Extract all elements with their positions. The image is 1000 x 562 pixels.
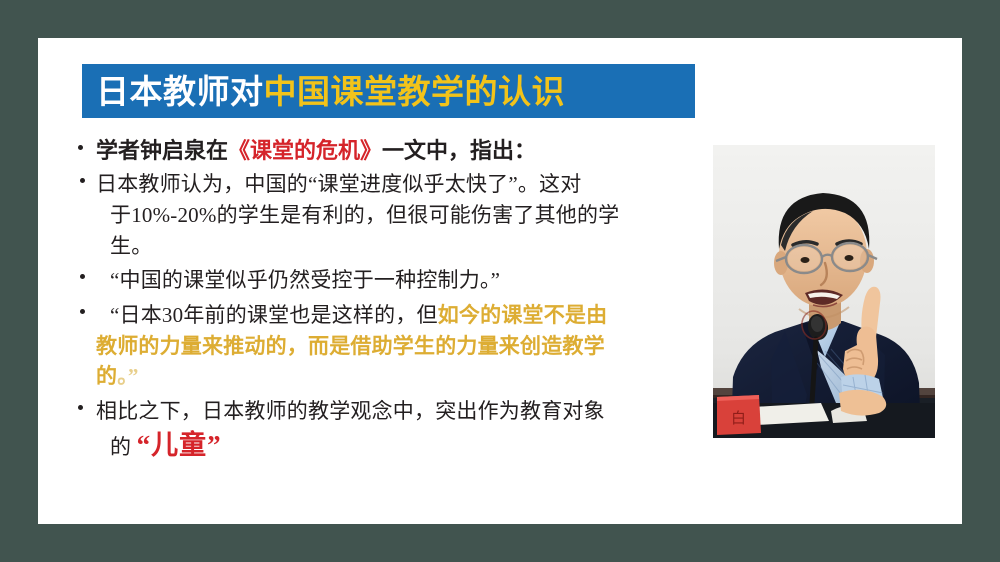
bullet-5-line-2: 的 “儿童” — [96, 426, 699, 465]
bullet-marker-icon — [80, 309, 85, 314]
bullet-item-5: 相比之下，日本教师的教学观念中，突出作为教育对象 的 “儿童” — [74, 396, 699, 466]
bullet-item-1: 学者钟启泉在《课堂的危机》一文中，指出： — [74, 136, 699, 167]
bullet-4-line-1: “日本30年前的课堂也是这样的，但如今的课堂不是由 — [96, 300, 699, 331]
bullet-4-line-2: 教师的力量来推动的，而是借助学生的力量来创造教学 — [96, 331, 699, 362]
speaker-photo: 白 — [713, 145, 935, 438]
speaker-photo-image: 白 — [713, 145, 935, 438]
bullet-2-line-2: 于10%-20%的学生是有利的，但很可能伤害了其他的学 — [96, 200, 699, 231]
bullet-item-2: 日本教师认为，中国的“课堂进度似乎太快了”。这对 于10%-20%的学生是有利的… — [74, 169, 699, 261]
name-placard: 白 — [717, 395, 761, 435]
bullet-marker-icon — [80, 178, 85, 183]
bullet-4-line-3-text: 的 — [96, 364, 117, 388]
bullet-1-line: 学者钟启泉在《课堂的危机》一文中，指出： — [96, 136, 699, 167]
bullet-4-seg-black: “日本30年前的课堂也是这样的，但 — [110, 303, 438, 327]
bullet-2-line-1: 日本教师认为，中国的“课堂进度似乎太快了”。这对 — [96, 169, 699, 200]
presentation-slide: 日本教师对中国课堂教学的认识 学者钟启泉在《课堂的危机》一文中，指出： 日本教师… — [38, 38, 962, 524]
slide-title-band: 日本教师对中国课堂教学的认识 — [82, 64, 695, 118]
page-title-highlight: 中国课堂教学的认识 — [264, 72, 566, 111]
bullet-1-seg-a: 学者钟启泉在 — [96, 139, 228, 164]
bullet-1-seg-c: 一文中，指出： — [382, 139, 536, 164]
bullet-marker-icon — [80, 274, 85, 279]
bullet-3-line-1: “中国的课堂似乎仍然受控于一种控制力。” — [96, 265, 699, 296]
bullet-4-line-2-text: 教师的力量来推动的，而是借助学生的力量来创造教学 — [96, 334, 605, 358]
page-title-prefix: 日本教师对 — [96, 72, 264, 111]
bullet-2-line-3: 生。 — [96, 231, 699, 262]
bullet-marker-icon — [78, 405, 83, 410]
bullet-4-seg-gold: 如今的课堂不是由 — [438, 303, 608, 327]
bullet-1-seg-title: 《课堂的危机》 — [228, 139, 382, 164]
bullet-4-line-3-close: 。” — [117, 364, 138, 388]
placard-text: 白 — [731, 409, 746, 427]
bullet-item-3: “中国的课堂似乎仍然受控于一种控制力。” — [74, 265, 699, 296]
bullet-marker-icon — [78, 145, 83, 150]
bullet-5-seg-prefix: 的 — [110, 435, 137, 459]
bullet-5-line-1: 相比之下，日本教师的教学观念中，突出作为教育对象 — [96, 396, 699, 427]
slide-body: 学者钟启泉在《课堂的危机》一文中，指出： 日本教师认为，中国的“课堂进度似乎太快… — [74, 136, 699, 470]
slide-frame: 日本教师对中国课堂教学的认识 学者钟启泉在《课堂的危机》一文中，指出： 日本教师… — [0, 0, 1000, 562]
bullet-4-line-3: 的。” — [96, 361, 699, 392]
bullet-item-4: “日本30年前的课堂也是这样的，但如今的课堂不是由 教师的力量来推动的，而是借助… — [74, 300, 699, 392]
page-title: 日本教师对中国课堂教学的认识 — [96, 75, 565, 108]
bullet-5-seg-keyword: “儿童” — [137, 430, 222, 460]
